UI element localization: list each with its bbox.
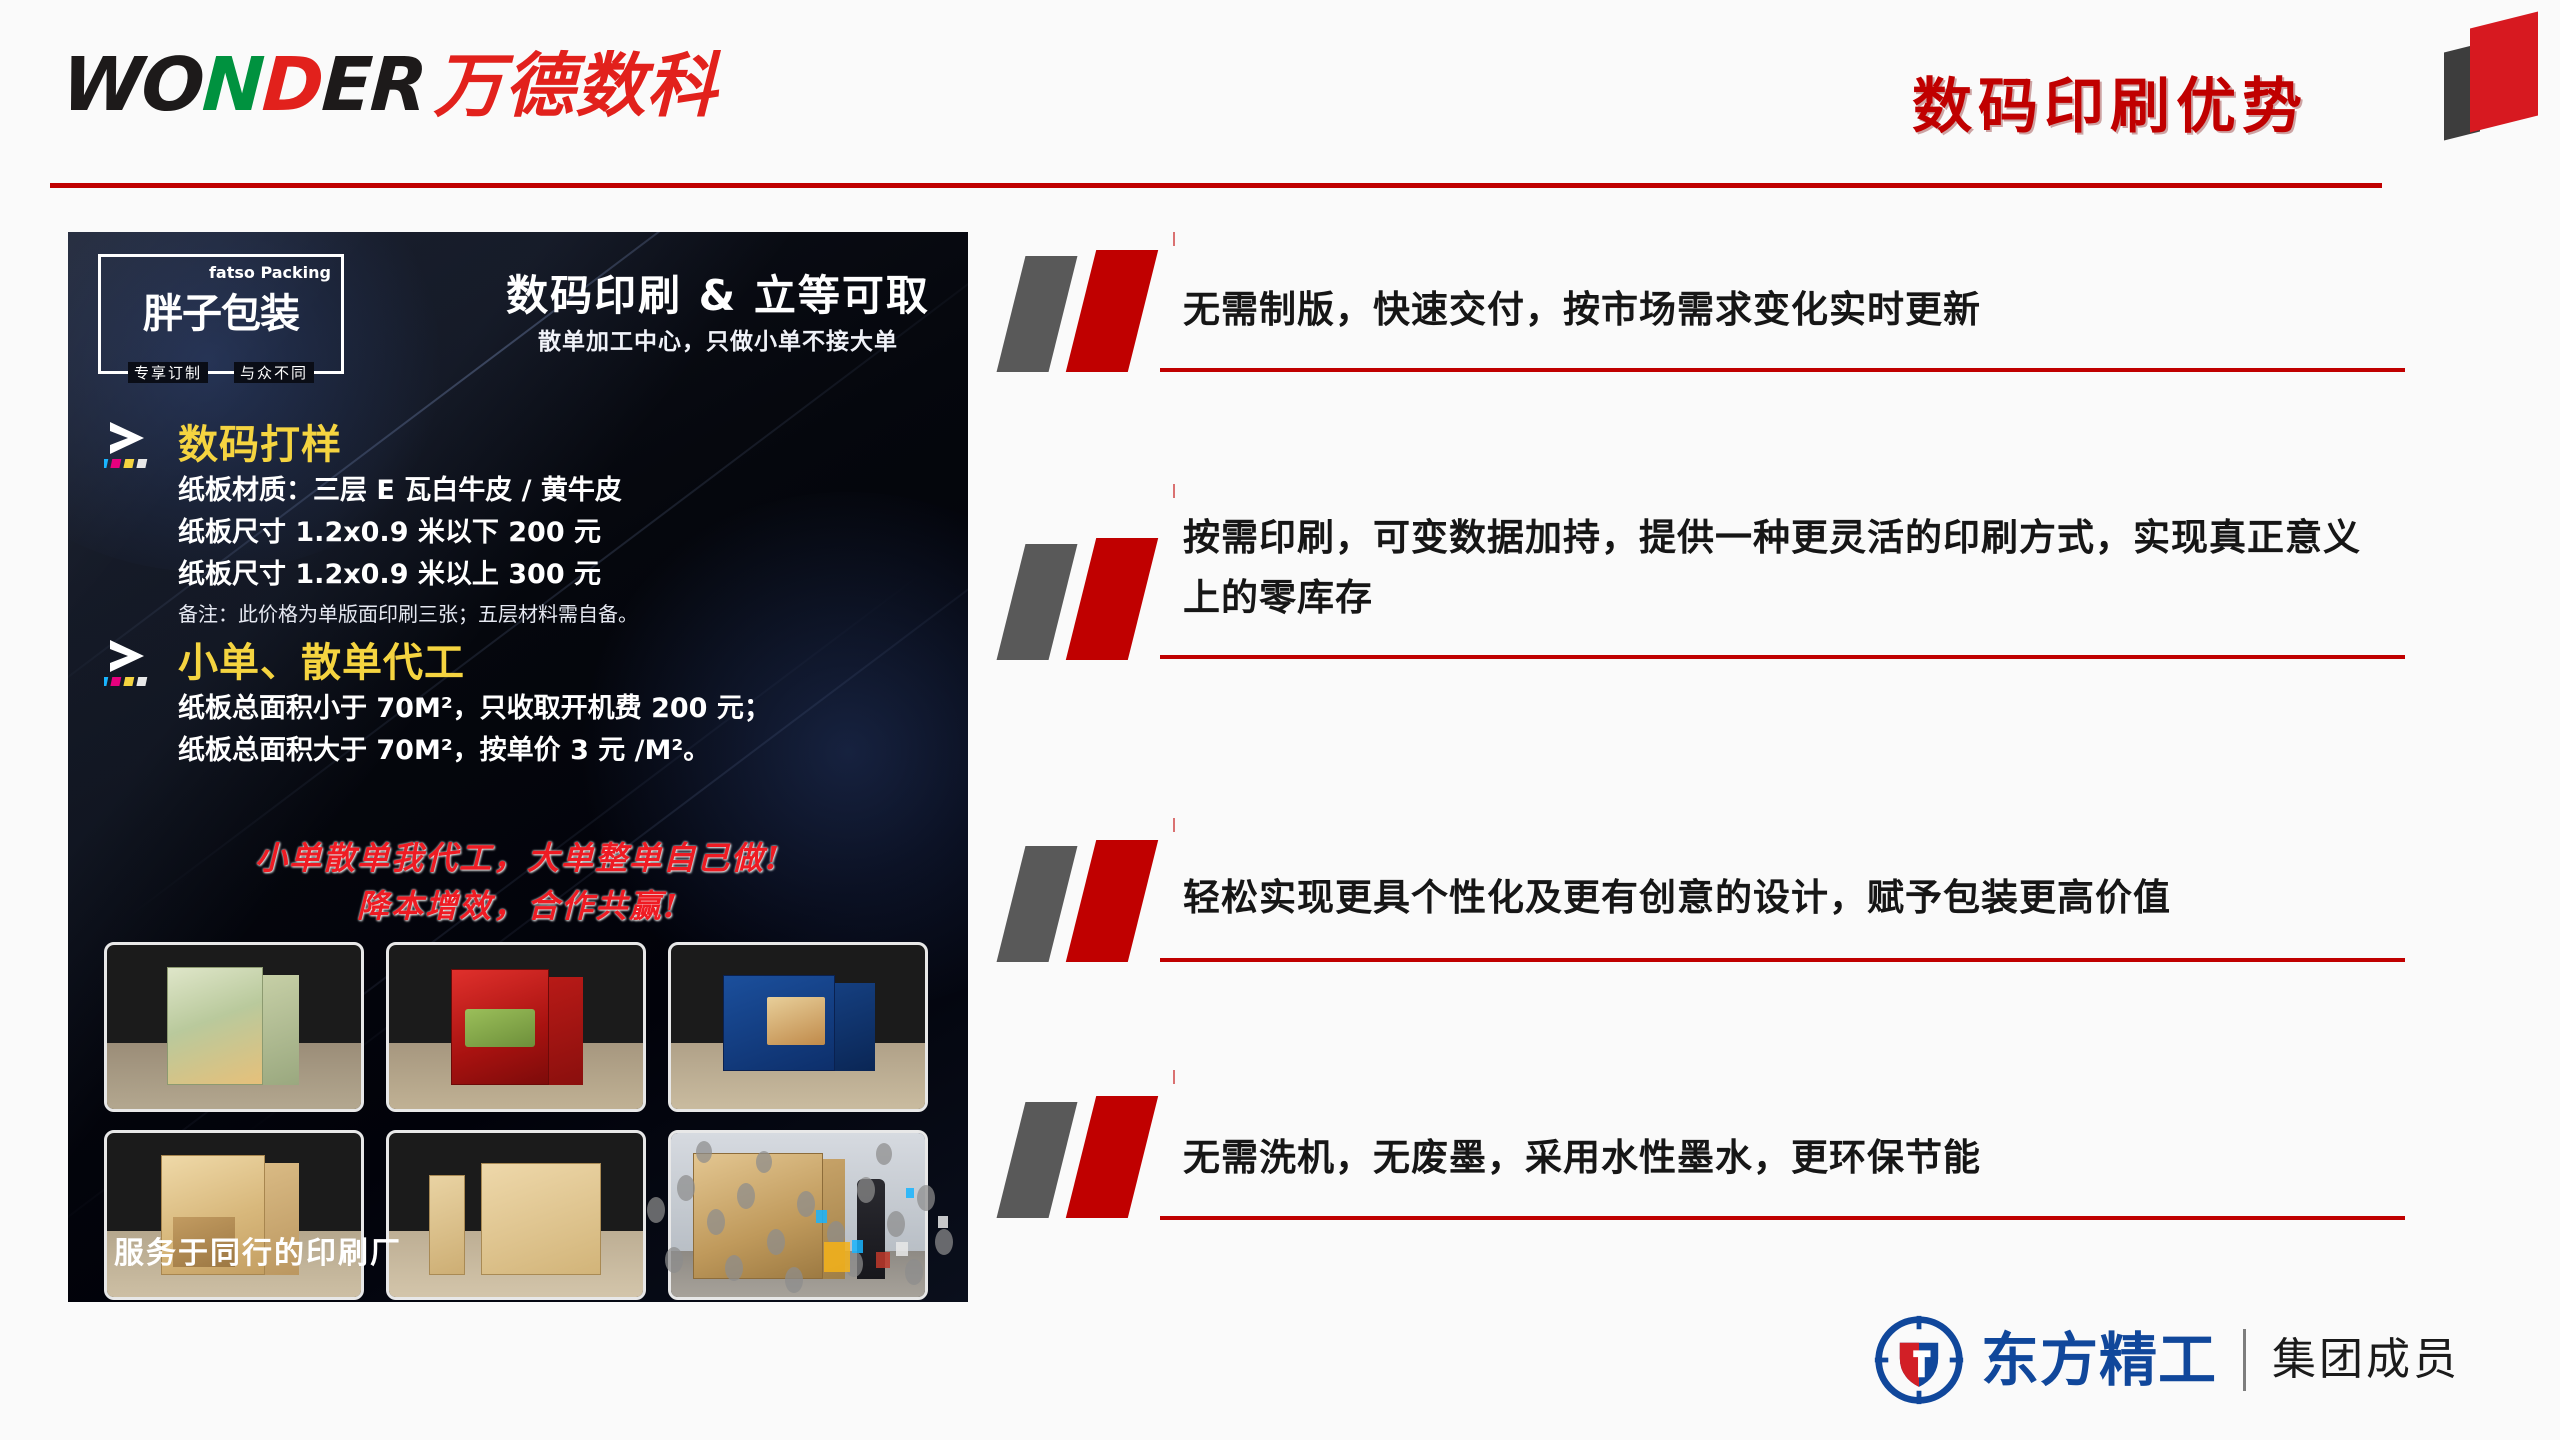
photo-box-small <box>429 1175 465 1275</box>
logo-en-part1: WO <box>60 42 205 128</box>
bullet-marker-gray <box>997 846 1078 962</box>
bullet-tick <box>1173 484 1175 498</box>
corner-decoration-icon <box>2440 8 2550 136</box>
slide-header: WONDER 万德数科 数码印刷优势 <box>0 0 2560 190</box>
bullet-marker-red <box>1066 538 1158 660</box>
section-lines: 纸板总面积小于 70M²，只收取开机费 200 元； 纸板总面积大于 70M²，… <box>178 688 771 772</box>
bullet-text: 无需洗机，无废墨，采用水性墨水，更环保节能 <box>1183 1128 2398 1188</box>
poster-slogan: 小单散单我代工，大单整单自己做! 降本增效，合作共赢! <box>68 834 968 930</box>
bullet-text: 无需制版，快速交付，按市场需求变化实时更新 <box>1183 280 2398 340</box>
photo-box <box>167 967 263 1085</box>
fatso-brand-box: 胖子包装 fatso Packing 专享订制 与众不同 <box>98 254 344 374</box>
bullet-marker-gray <box>997 1102 1078 1218</box>
dot-pattern-decoration <box>638 1092 968 1302</box>
section-line: 纸板材质：三层 E 瓦白牛皮 / 黄牛皮 <box>178 470 638 512</box>
fatso-brand-name: 胖子包装 <box>101 281 341 339</box>
bullet-text: 按需印刷，可变数据加持，提供一种更灵活的印刷方式，实现真正意义上的零库存 <box>1183 508 2398 628</box>
bullet-underline <box>1160 958 2405 962</box>
slogan-line: 降本增效，合作共赢! <box>68 882 968 930</box>
chevron-cmyk-icon <box>104 636 168 690</box>
fatso-tag-right: 与众不同 <box>234 362 314 383</box>
wonder-logo: WONDER 万德数科 <box>62 48 717 122</box>
photo-box-label <box>465 1009 535 1047</box>
page-title: 数码印刷优势 <box>1912 58 2308 145</box>
bullet-tick <box>1173 232 1175 246</box>
logo-en-green-letter: N <box>200 42 264 128</box>
bullet-marker-gray <box>997 544 1078 660</box>
header-divider <box>50 183 2382 188</box>
photo-box-side <box>549 977 583 1085</box>
photo-box <box>481 1163 601 1275</box>
poster-headline: 数码印刷 & 立等可取 <box>498 262 938 323</box>
section-line: 纸板尺寸 1.2x0.9 米以上 300 元 <box>178 554 638 596</box>
bullet-marker-icon <box>1005 250 1195 375</box>
bullet-marker-red <box>1066 250 1158 372</box>
poster-image: 胖子包装 fatso Packing 专享订制 与众不同 数码印刷 & 立等可取… <box>68 232 968 1302</box>
section-line: 纸板总面积大于 70M²，按单价 3 元 /M²。 <box>178 730 771 772</box>
fatso-tag-left: 专享订制 <box>128 362 208 383</box>
dfjg-shield-circle-logo-icon <box>1871 1312 1967 1408</box>
section-lines: 纸板材质：三层 E 瓦白牛皮 / 黄牛皮 纸板尺寸 1.2x0.9 米以下 20… <box>178 470 638 632</box>
wonder-logo-en: WONDER <box>60 48 427 122</box>
gallery-item-red-meat-gift-box <box>386 942 646 1112</box>
bullet-text: 轻松实现更具个性化及更有创意的设计，赋予包装更高价值 <box>1183 868 2398 928</box>
section-note: 备注：此价格为单版面印刷三张；五层材料需自备。 <box>178 596 638 632</box>
bullet-underline <box>1160 368 2405 372</box>
gallery-item-honey-gift-box <box>104 942 364 1112</box>
bullet-marker-icon <box>1005 538 1195 663</box>
dfjg-footer-logo: 东方精工 集团成员 <box>1871 1312 2460 1408</box>
photo-box-side <box>263 975 299 1085</box>
section-line: 纸板尺寸 1.2x0.9 米以下 200 元 <box>178 512 638 554</box>
gallery-item-blue-beef-jerky-box <box>668 942 928 1112</box>
chevron-cmyk-icon <box>104 418 168 472</box>
fatso-brand-tags: 专享订制 与众不同 <box>101 362 341 383</box>
corner-red-shape <box>2470 12 2538 133</box>
photo-box-label <box>767 997 825 1045</box>
footer-divider <box>2243 1329 2246 1391</box>
section-title: 数码打样 <box>178 412 342 470</box>
photo-box-side <box>835 983 875 1071</box>
bullet-underline <box>1160 1216 2405 1220</box>
bullet-marker-icon <box>1005 1096 1195 1221</box>
wonder-logo-cn: 万德数科 <box>433 51 717 121</box>
bullet-tick <box>1173 1070 1175 1084</box>
logo-en-red-letter: D <box>260 42 324 128</box>
slogan-line: 小单散单我代工，大单整单自己做! <box>68 834 968 882</box>
poster-footer-text: 服务于同行的印刷厂 <box>114 1228 402 1272</box>
slide-root: WONDER 万德数科 数码印刷优势 胖子包装 fatso Packing 专享… <box>0 0 2560 1440</box>
dfjg-brand-name: 东方精工 <box>1981 1331 2217 1389</box>
bullet-underline <box>1160 655 2405 659</box>
dfjg-member-label: 集团成员 <box>2272 1338 2460 1382</box>
logo-en-part2: ER <box>320 42 428 128</box>
bullet-marker-icon <box>1005 840 1195 965</box>
bullet-marker-gray <box>997 256 1078 372</box>
section-title: 小单、散单代工 <box>178 630 465 688</box>
fatso-brand-en: fatso Packing <box>209 263 331 282</box>
gallery-item-classic-kraft-boxes <box>386 1130 646 1300</box>
section-line: 纸板总面积小于 70M²，只收取开机费 200 元； <box>178 688 771 730</box>
gallery-item-kraft-handle-box <box>104 1130 364 1300</box>
bullet-tick <box>1173 818 1175 832</box>
poster-subheadline: 散单加工中心，只做小单不接大单 <box>498 322 938 356</box>
bullet-marker-red <box>1066 1096 1158 1218</box>
bullet-marker-red <box>1066 840 1158 962</box>
